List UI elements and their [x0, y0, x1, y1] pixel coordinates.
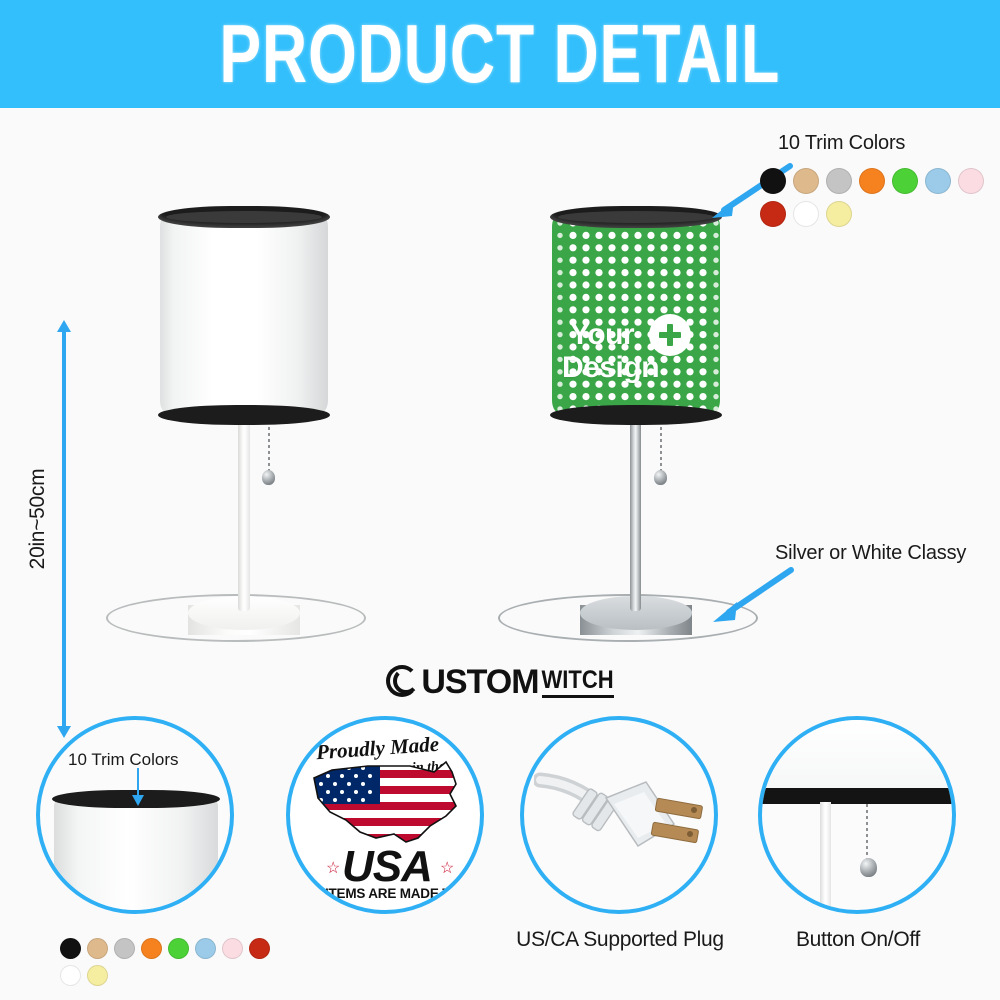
design-placeholder-line2: Design [562, 351, 659, 384]
brand-logo: USTOM WITCH [0, 660, 1000, 704]
pull-chain[interactable] [866, 804, 868, 862]
logo-c-icon [386, 665, 420, 699]
lamp-pole [238, 421, 250, 611]
lamp-white [156, 206, 346, 656]
feature-circle: 10 Trim Colors [36, 716, 234, 914]
pull-chain-ball[interactable] [654, 470, 667, 485]
shade-inner-rim [166, 211, 322, 223]
logo-witch-wrap: WITCH [542, 667, 614, 698]
power-plug-icon [534, 754, 714, 884]
feature-circle [520, 716, 718, 914]
arrow-head [132, 795, 144, 806]
lamp-shade: Your Design [552, 206, 720, 421]
shade-bottom-crop [762, 720, 956, 790]
usa-line3: USA [342, 842, 432, 892]
trim-swatch-red[interactable] [249, 938, 270, 959]
pull-chain-ball[interactable] [860, 858, 877, 877]
trim-swatch-yellow[interactable] [826, 201, 852, 227]
feature-circle: Proudly Made in the [286, 716, 484, 914]
plus-icon[interactable] [649, 314, 691, 356]
shade-trim-bottom [158, 405, 330, 425]
trim-swatch-green[interactable] [168, 938, 189, 959]
trim-color-swatches-top[interactable] [760, 168, 1000, 227]
logo-custom-text: USTOM [421, 663, 538, 702]
feature-row: 10 Trim Colors Proudly Made in the [0, 708, 1000, 1000]
pull-chain-ball[interactable] [262, 470, 275, 485]
lamp-shade [160, 206, 328, 421]
trim-swatch-black[interactable] [760, 168, 786, 194]
trim-swatch-gray[interactable] [826, 168, 852, 194]
shade-fabric [160, 215, 328, 412]
pull-chain[interactable] [268, 421, 270, 473]
trim-swatch-gray[interactable] [114, 938, 135, 959]
trim-swatch-green[interactable] [892, 168, 918, 194]
star-left-icon: ☆ [326, 858, 340, 878]
lamp-pole [630, 421, 641, 611]
logo-witch-text: WITCH [542, 665, 614, 695]
base-finish-arrow-icon [695, 560, 805, 630]
product-stage: 7in~18cm 20in~50cm [0, 112, 1000, 700]
trim-swatch-orange[interactable] [141, 938, 162, 959]
shade-fabric: Your Design [552, 215, 720, 412]
usa-line4: ALL ITEMS ARE MADE TO ORDER! [296, 886, 484, 901]
trim-swatch-tan[interactable] [793, 168, 819, 194]
feature-circle [758, 716, 956, 914]
star-right-icon: ☆ [440, 858, 454, 878]
trim-swatch-pink[interactable] [222, 938, 243, 959]
arrow-stem [137, 768, 139, 796]
plus-horizontal [659, 332, 681, 338]
trim-swatch-yellow[interactable] [87, 965, 108, 986]
page-title: PRODUCT DETAIL [220, 13, 781, 96]
trim-swatch-white[interactable] [60, 965, 81, 986]
trim-swatch-black[interactable] [60, 938, 81, 959]
trim-down-arrow-icon [132, 768, 144, 796]
trim-colors-mini-label: 10 Trim Colors [68, 750, 179, 770]
shade-trim-bottom [550, 405, 722, 425]
lamp-pole-crop [820, 802, 831, 914]
plug-caption: US/CA Supported Plug [490, 928, 750, 952]
trim-swatch-light-blue[interactable] [195, 938, 216, 959]
shade-crop [54, 798, 218, 914]
design-placeholder-line1: Your [570, 318, 634, 351]
pull-chain[interactable] [660, 421, 662, 473]
trim-swatch-tan[interactable] [87, 938, 108, 959]
trim-color-swatches-bottom[interactable] [60, 938, 280, 986]
trim-swatch-orange[interactable] [859, 168, 885, 194]
header-banner: PRODUCT DETAIL [0, 0, 1000, 108]
trim-swatch-red[interactable] [760, 201, 786, 227]
height-dimension-label: 20in~50cm [26, 419, 50, 619]
trim-swatch-light-blue[interactable] [925, 168, 951, 194]
trim-swatch-pink[interactable] [958, 168, 984, 194]
shade-trim-crop [758, 788, 956, 804]
switch-caption: Button On/Off [728, 928, 988, 952]
trim-swatch-white[interactable] [793, 201, 819, 227]
trim-colors-callout-label: 10 Trim Colors [778, 132, 905, 155]
usa-map-flag-icon [306, 754, 472, 850]
product-detail-page: PRODUCT DETAIL 7in~18cm 20in~50cm [0, 0, 1000, 1000]
logo-ring-inner [393, 668, 419, 694]
